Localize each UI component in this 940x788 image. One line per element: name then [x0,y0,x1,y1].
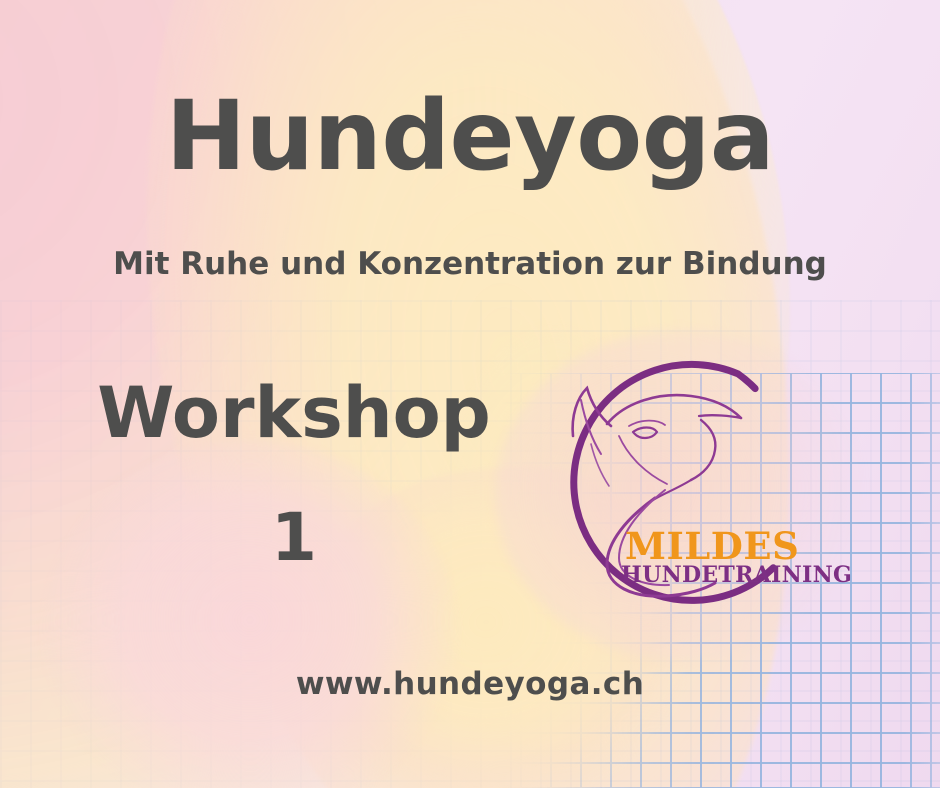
poster-content: Hundeyoga Mit Ruhe und Konzentration zur… [0,0,940,788]
page-subtitle: Mit Ruhe und Konzentration zur Bindung [0,246,940,282]
page-title: Hundeyoga [0,88,940,184]
website-url: www.hundeyoga.ch [0,666,940,702]
poster-canvas: Hundeyoga Mit Ruhe und Konzentration zur… [0,0,940,788]
workshop-label: Workshop [34,378,554,448]
mildes-hundetraining-logo: MILDES HUNDETRAINING [515,340,825,625]
logo-wordmark-primary: MILDES [625,528,799,565]
workshop-number: 1 [34,505,554,571]
logo-wordmark-secondary: HUNDETRAINING [621,564,852,586]
